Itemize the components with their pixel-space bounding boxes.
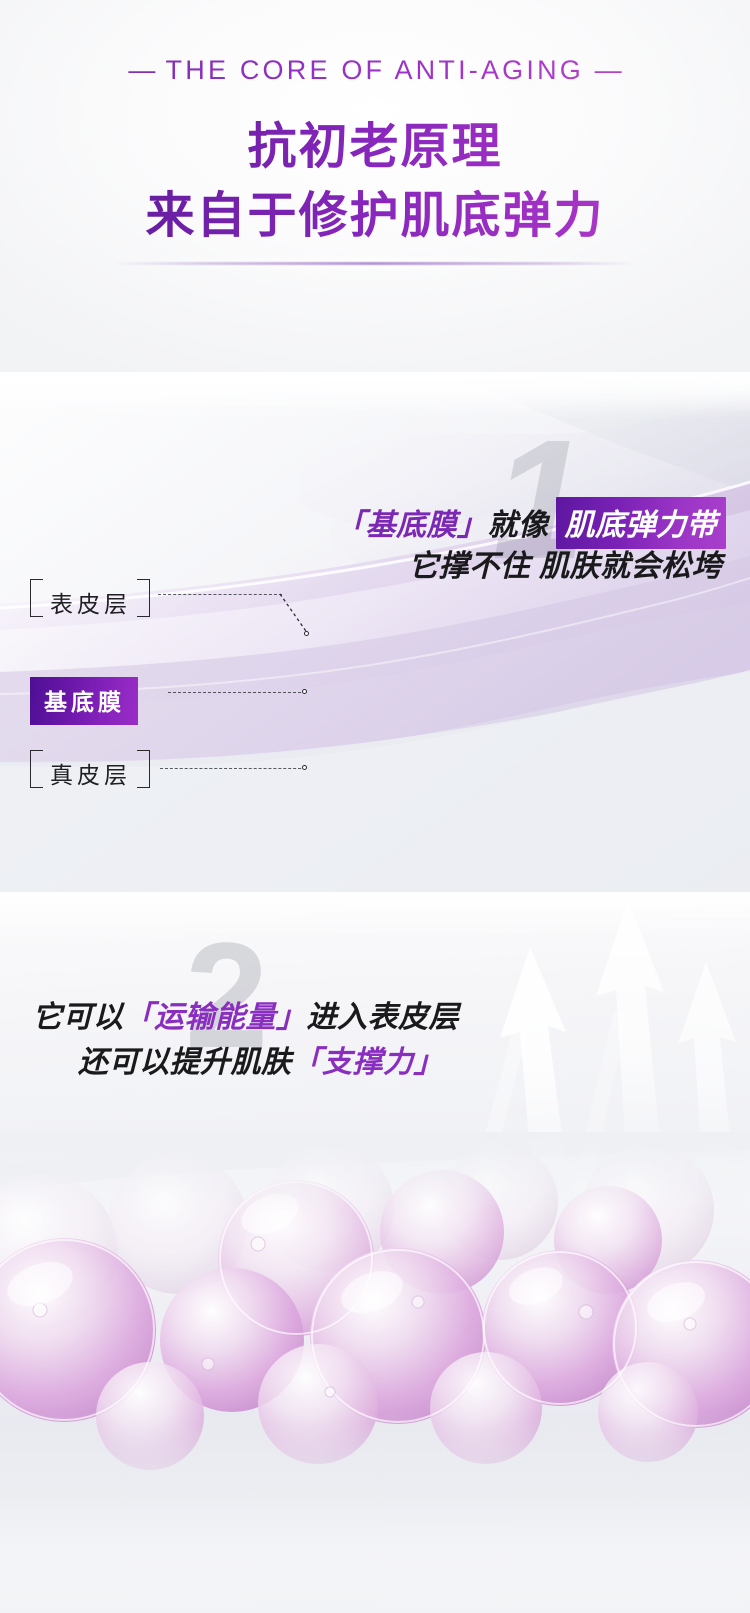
leader-dot-dermis	[302, 765, 307, 770]
leader-line-basement-membrane	[168, 692, 306, 693]
page-title-line-1: 抗初老原理	[0, 107, 750, 178]
section-skin-layers: 1 「基底膜」就像肌底弹力带 它撑不住 肌肤就会松垮 表皮层 基底膜 真皮层	[0, 372, 750, 892]
eyebrow-dash-right: —	[595, 55, 622, 85]
leader-line-dermis	[160, 768, 306, 769]
section2-headline-line-2: 还可以提升肌肤「支撑力」	[78, 1037, 444, 1081]
leader-dot-basement-membrane	[302, 689, 307, 694]
section2-term-energy-transport: 「运输能量」	[124, 1001, 307, 1034]
page-title-line-2: 来自于修护肌底弹力	[0, 176, 750, 247]
section2-line2-prefix: 还可以提升肌肤	[78, 1046, 292, 1079]
section1-headline-line-2: 它撑不住 肌肤就会松垮	[408, 541, 722, 585]
header-eyebrow: — THE CORE OF ANTI-AGING —	[0, 55, 750, 86]
section2-term-support-force: 「支撑力」	[292, 1046, 445, 1079]
section1-top-sheen	[0, 372, 750, 412]
leader-line-epidermis-diag	[278, 590, 318, 640]
layer-label-epidermis-text: 表皮层	[38, 581, 141, 624]
section1-line1-middle: 就像	[488, 509, 549, 542]
section2-line1-prefix: 它可以	[32, 1001, 124, 1034]
section2-top-sheen	[0, 892, 750, 938]
eyebrow-dash-left: —	[128, 55, 155, 85]
header-section: — THE CORE OF ANTI-AGING — 抗初老原理 来自于修护肌底…	[0, 0, 750, 372]
leader-dot-epidermis	[304, 631, 309, 636]
layer-label-dermis-text: 真皮层	[38, 752, 141, 795]
leader-line-epidermis-h	[158, 594, 282, 595]
skin-layer-wave-illustration	[0, 372, 750, 892]
section2-line1-suffix: 进入表皮层	[307, 1001, 460, 1034]
eyebrow-text: THE CORE OF ANTI-AGING	[166, 55, 584, 85]
product-detail-page: — THE CORE OF ANTI-AGING — 抗初老原理 来自于修护肌底…	[0, 0, 750, 1613]
section1-term-basement-membrane: 「基底膜」	[335, 509, 488, 542]
section2-bottom-fade	[0, 1423, 750, 1613]
section2-headline-line-1: 它可以「运输能量」进入表皮层	[32, 992, 459, 1036]
header-divider	[115, 262, 635, 265]
layer-label-basement-membrane: 基底膜	[30, 677, 138, 725]
